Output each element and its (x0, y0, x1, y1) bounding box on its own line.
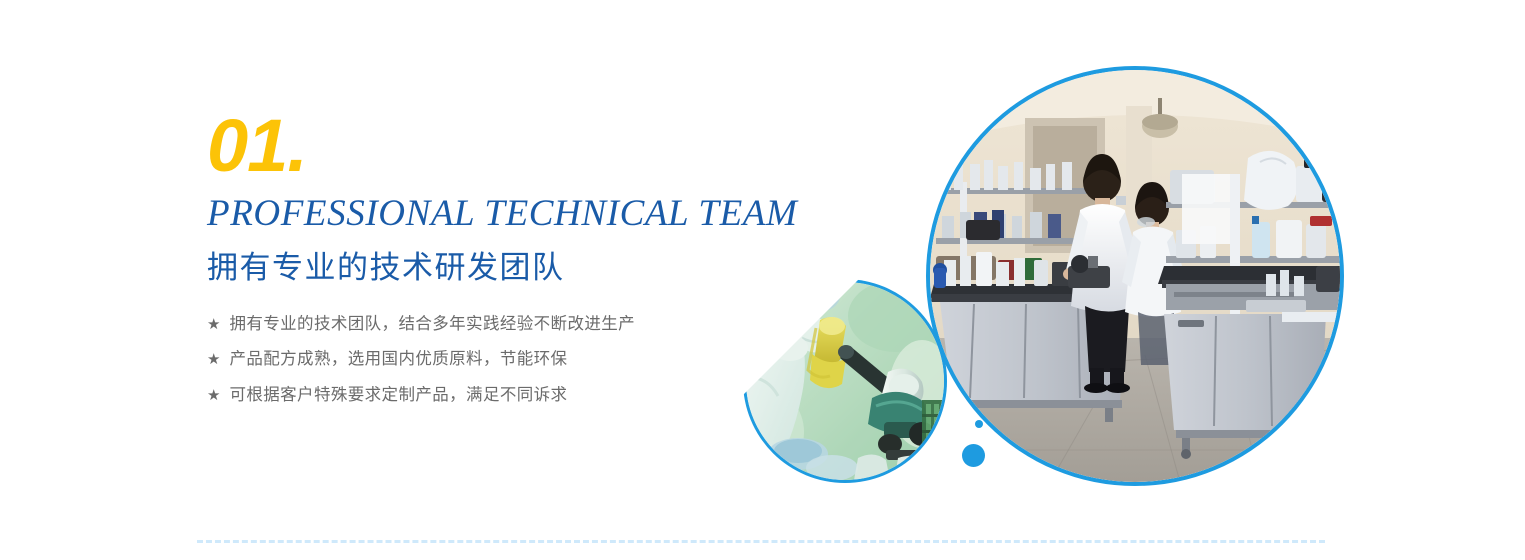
photo-laboratory-main (930, 70, 1340, 482)
list-item-label: 可根据客户特殊要求定制产品，满足不同诉求 (229, 387, 567, 404)
list-item-label: 拥有专业的技术团队，结合多年实践经验不断改进生产 (229, 316, 635, 333)
section-number: 01. (207, 112, 927, 180)
promo-banner: 01. PROFESSIONAL TECHNICAL TEAM 拥有专业的技术研… (0, 0, 1525, 560)
photo-laboratory-main-clip (930, 70, 1340, 482)
decor-dot-large (962, 444, 985, 467)
star-icon: ★ (207, 352, 220, 367)
star-icon: ★ (207, 317, 220, 332)
headline-english: PROFESSIONAL TECHNICAL TEAM (207, 194, 927, 235)
star-icon: ★ (207, 388, 220, 403)
decor-dot-small (975, 420, 983, 428)
list-item-label: 产品配方成熟，选用国内优质原料，节能环保 (229, 351, 567, 368)
laboratory-scene-illustration (930, 70, 1340, 482)
dashed-divider (197, 540, 1325, 543)
